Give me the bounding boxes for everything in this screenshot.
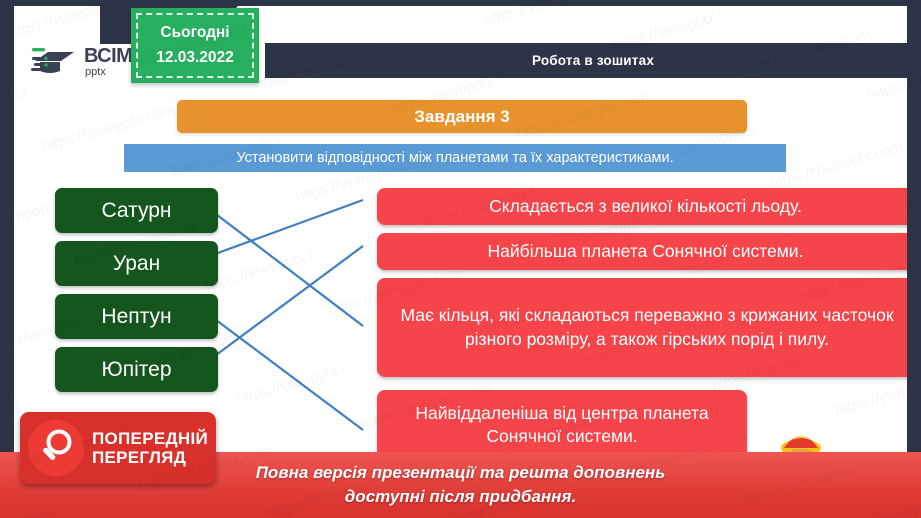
preview-badge-line-2: ПЕРЕГЛЯД bbox=[92, 448, 208, 467]
planet-label: Юпітер bbox=[102, 358, 172, 382]
preview-badge-line-1: ПОПЕРЕДНІЙ bbox=[92, 429, 208, 448]
preview-badge-circle bbox=[28, 420, 84, 476]
description-text: Найбільша планета Сонячної системи. bbox=[488, 240, 804, 263]
planet-box-jupiter[interactable]: Юпітер bbox=[55, 347, 218, 392]
description-box-1[interactable]: Складається з великої кількості льоду. bbox=[377, 188, 907, 225]
date-badge-label: Сьогодні bbox=[160, 21, 229, 45]
description-text: Має кільця, які складаються переважно з … bbox=[387, 304, 907, 350]
banner-line-1: Повна версія презентації та решта доповн… bbox=[256, 461, 666, 485]
planet-list: Сатурн Уран Нептун Юпітер bbox=[55, 188, 218, 400]
planet-label: Уран bbox=[113, 252, 160, 276]
planet-label: Сатурн bbox=[101, 199, 171, 223]
date-badge-value: 12.03.2022 bbox=[156, 46, 234, 70]
planet-box-saturn[interactable]: Сатурн bbox=[55, 188, 218, 233]
planet-box-neptune[interactable]: Нептун bbox=[55, 294, 218, 339]
banner-line-2: доступні після придбання. bbox=[345, 485, 576, 509]
planet-box-uranus[interactable]: Уран bbox=[55, 241, 218, 286]
magnifier-icon bbox=[39, 429, 75, 467]
description-text: Найвіддаленіша від центра планета Сонячн… bbox=[387, 402, 737, 448]
preview-badge[interactable]: ПОПЕРЕДНІЙ ПЕРЕГЛЯД bbox=[20, 412, 216, 484]
planet-label: Нептун bbox=[101, 305, 171, 329]
slide-viewer: ВСІМ pptx Сьогодні 12.03.2022 Робота в з… bbox=[0, 0, 921, 518]
description-box-4[interactable]: Найвіддаленіша від центра планета Сонячн… bbox=[377, 390, 747, 460]
description-text: Складається з великої кількості льоду. bbox=[489, 195, 802, 218]
description-box-2[interactable]: Найбільша планета Сонячної системи. bbox=[377, 233, 907, 270]
description-box-3[interactable]: Має кільця, які складаються переважно з … bbox=[377, 278, 907, 377]
